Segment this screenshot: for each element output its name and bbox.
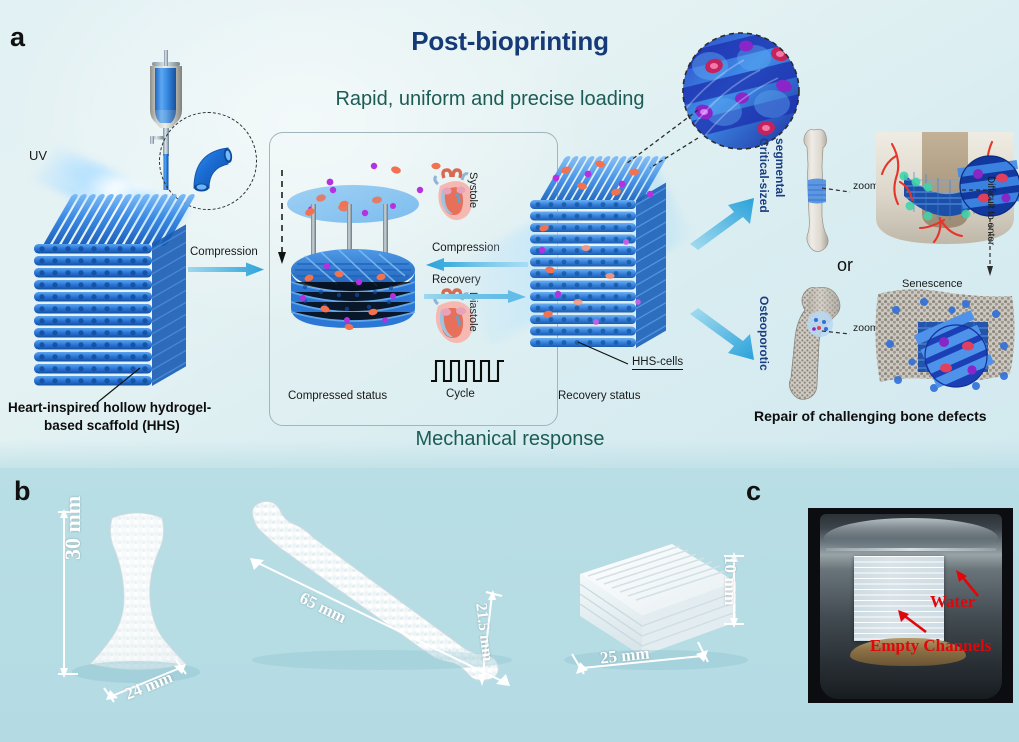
mechanical-response-label: Mechanical response xyxy=(380,428,640,451)
arrow-to-osteoporotic xyxy=(688,310,762,362)
compression-arrow-left xyxy=(188,262,266,278)
scaffold-caption-line2: based scaffold (HHS) xyxy=(44,418,180,433)
recovery-status-scaffold xyxy=(526,152,676,362)
panel-letter-b: b xyxy=(14,478,30,505)
osteoporotic-trabecular-implant xyxy=(872,288,1018,408)
compression-label-left: Compression xyxy=(190,246,258,258)
compressed-status-label: Compressed status xyxy=(288,390,387,402)
osteoporotic-label: Osteoporotic xyxy=(757,296,771,371)
hhs-cells-leader xyxy=(578,340,634,368)
dimension-30mm-label: 30 mm xyxy=(60,496,86,560)
recovery-status-label: Recovery status xyxy=(558,390,640,402)
hollow-tube-icon xyxy=(178,130,242,194)
loading-direction-arrow xyxy=(276,170,290,268)
dimension-10mm-label: 10 mm xyxy=(720,556,740,606)
uv-label: UV xyxy=(29,148,47,163)
difficult-to-enter-leader xyxy=(962,186,1002,280)
empty-channels-label: Empty Channels xyxy=(870,636,991,656)
osteoporotic-femur xyxy=(786,284,860,400)
scaffold-caption-leader xyxy=(96,368,146,404)
inset-leader-lines xyxy=(620,108,700,170)
water-label: Water xyxy=(930,592,975,612)
water-surface-line xyxy=(826,548,996,551)
cycle-label: Cycle xyxy=(446,388,475,400)
scaffold-caption-line1: Heart-inspired hollow hydrogel- xyxy=(8,400,211,415)
beaker-rim xyxy=(824,518,998,552)
repair-caption: Repair of challenging bone defects xyxy=(754,408,987,424)
empty-channels-pointer-arrow xyxy=(894,610,932,636)
hhs-scaffold-main xyxy=(28,188,188,388)
or-label: or xyxy=(837,255,853,276)
segmental-label: segmental xyxy=(773,138,787,197)
panel-a-title: Post-bioprinting xyxy=(380,26,640,57)
arrow-to-critical-defect xyxy=(688,196,762,248)
figure-root: a b c Post-bioprinting Rapid, uniform an… xyxy=(0,0,1019,742)
systole-label: Systole xyxy=(467,172,479,208)
panel-letter-a: a xyxy=(10,24,25,51)
cycle-waveform-icon xyxy=(430,356,506,384)
panel-c-photo: Water Empty Channels xyxy=(808,508,1013,703)
critical-sized-label: Critical-sized xyxy=(757,138,771,213)
panel-letter-c: c xyxy=(746,478,761,505)
hhs-cells-label: HHS-cells xyxy=(632,356,683,370)
